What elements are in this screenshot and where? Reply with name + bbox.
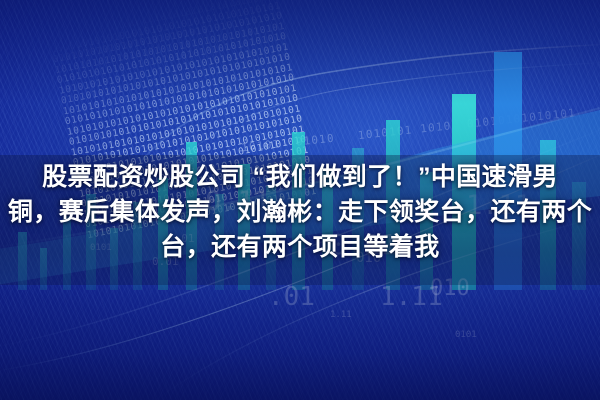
- banner-image: 0101010101010101010101010101010101010101…: [0, 0, 600, 400]
- headline-line-1: 股票配资炒股公司 “我们做到了！”中国速滑男: [0, 160, 600, 195]
- headline-line-3: 台，还有两个项目等着我: [0, 230, 600, 265]
- headline-text: 股票配资炒股公司 “我们做到了！”中国速滑男铜，赛后集体发声，刘瀚彬：走下领奖台…: [0, 160, 600, 265]
- headline-line-2: 铜，赛后集体发声，刘瀚彬：走下领奖台，还有两个: [0, 195, 600, 230]
